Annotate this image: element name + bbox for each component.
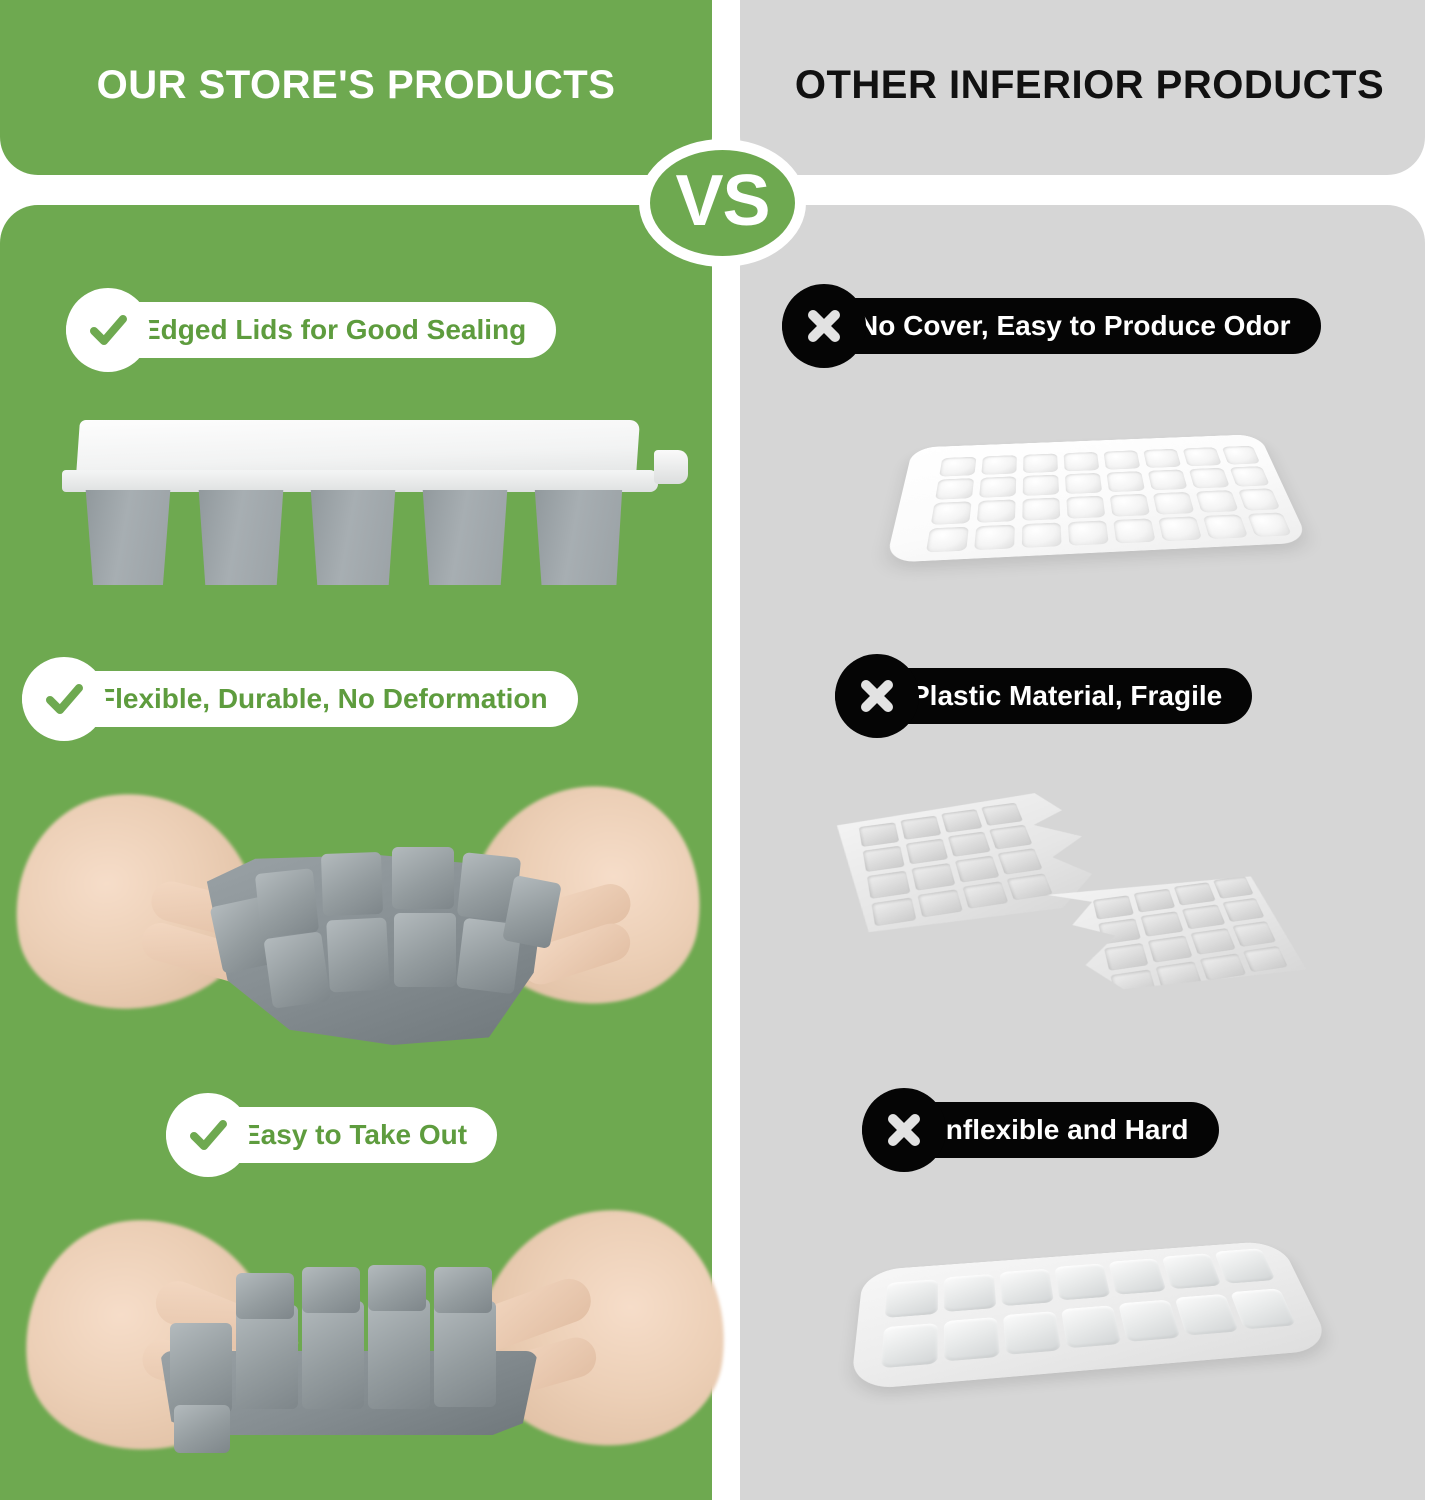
ice-cube — [368, 1299, 430, 1409]
vs-badge: VS — [639, 139, 806, 267]
feature-label: Flexible, Durable, No Deformation — [98, 683, 548, 715]
ice-cube — [1162, 1253, 1222, 1289]
ice-cube-cavity — [321, 852, 383, 916]
tray-cavity — [1222, 898, 1264, 922]
tray-compartment — [194, 490, 288, 585]
tray-cavity — [1006, 873, 1052, 900]
tray-cavity — [1155, 961, 1201, 989]
tray-cavity — [931, 501, 972, 525]
tray-cavity — [1022, 522, 1062, 547]
tray-cavity — [1140, 911, 1183, 936]
feature-label: Edged Lids for Good Sealing — [142, 314, 526, 346]
tray-cavity — [1103, 450, 1140, 469]
panel-our-products: Edged Lids for Good Sealing Flexible, Du… — [0, 205, 712, 1500]
check-icon — [66, 288, 150, 372]
tray-cavity — [1113, 518, 1155, 543]
tray-cavity — [1243, 946, 1288, 972]
ice-cube — [1054, 1263, 1110, 1300]
ice-cube — [885, 1279, 938, 1318]
tray-cavity — [1232, 921, 1276, 947]
tray-cavity — [1158, 516, 1202, 541]
tray-cavity — [1200, 953, 1247, 980]
tray-cavity — [979, 476, 1016, 497]
tray-cavity — [926, 527, 969, 553]
tray-cavity — [1238, 488, 1281, 510]
tray-cavity — [867, 871, 911, 899]
ice-cube — [1214, 1248, 1275, 1283]
white-plastic-tray-body — [886, 434, 1310, 563]
image-rigid-plastic-tray-with-cubes — [855, 1215, 1325, 1445]
lid-pull-tab — [654, 450, 688, 484]
tray-cavity — [1229, 466, 1269, 487]
tray-compartment — [82, 490, 174, 585]
ice-cube — [170, 1323, 232, 1413]
image-hands-pushing-out-cubes — [40, 1205, 690, 1485]
tray-cavity — [1195, 490, 1238, 513]
tray-cavity — [906, 839, 949, 865]
ice-cube — [174, 1405, 230, 1453]
tray-cavity — [863, 846, 905, 872]
ice-cube — [434, 1267, 492, 1313]
tray-cavity — [1190, 928, 1235, 955]
tray-cavity — [1106, 471, 1145, 492]
tray-cavity — [962, 881, 1008, 909]
tray-cavity — [859, 822, 899, 847]
panel-other-products: No Cover, Easy to Produce Odor — [740, 205, 1425, 1500]
tray-cavity — [900, 816, 941, 840]
tray-cavity — [955, 855, 1000, 882]
ice-cube — [1108, 1258, 1166, 1295]
ice-cube — [1003, 1311, 1061, 1355]
cross-icon — [782, 284, 866, 368]
ice-cube — [302, 1267, 360, 1313]
tray-cavity — [1148, 935, 1193, 962]
ice-cube-cavity — [394, 913, 456, 987]
cross-icon — [862, 1088, 946, 1172]
tray-cavity — [1213, 876, 1254, 899]
ice-cube — [1230, 1288, 1296, 1329]
tray-cavity — [1022, 497, 1060, 520]
tray-cavity — [911, 863, 955, 891]
tray-cavity — [977, 499, 1016, 522]
tray-cavity — [974, 525, 1015, 551]
tray-cavity — [1222, 446, 1261, 465]
tray-cavity — [981, 803, 1023, 826]
ice-cube-cavity — [263, 931, 330, 1008]
ice-cube — [368, 1265, 426, 1311]
tray-cavity — [1064, 452, 1100, 472]
tray-lid-surface — [76, 420, 640, 476]
tray-cavity — [1189, 468, 1230, 489]
tray-compartment — [530, 490, 626, 585]
tray-lid-edge — [62, 470, 658, 492]
image-covered-silicone-ice-tray — [54, 420, 674, 605]
feature-pill-easy-take-out: Easy to Take Out — [166, 1107, 497, 1163]
tray-compartment — [306, 490, 400, 585]
drawback-pill-plastic-fragile: Plastic Material, Fragile — [835, 668, 1252, 724]
header-band-our-products: OUR STORE'S PRODUCTS — [0, 0, 712, 175]
header-band-other-products: OTHER INFERIOR PRODUCTS — [740, 0, 1425, 175]
page-title-left: OUR STORE'S PRODUCTS — [97, 63, 616, 112]
tray-cavity — [1203, 514, 1248, 539]
tray-cavity — [1174, 882, 1216, 905]
page-title-right: OTHER INFERIOR PRODUCTS — [781, 63, 1384, 112]
tray-cavity — [1182, 904, 1226, 929]
tray-cavity — [1110, 494, 1150, 517]
image-broken-plastic-tray — [840, 765, 1290, 1035]
ice-cube — [236, 1273, 294, 1319]
ice-cube — [302, 1301, 364, 1409]
tray-cavity — [981, 455, 1017, 475]
ice-cube-cavity — [255, 868, 319, 938]
tray-cavity — [1110, 969, 1156, 997]
tray-cavity — [1065, 473, 1102, 494]
tray-cavity — [1093, 895, 1134, 919]
tray-cavity — [1066, 496, 1105, 519]
ice-cube — [944, 1274, 996, 1312]
tray-cavity — [1153, 492, 1195, 515]
ice-cube-cavity — [326, 917, 390, 992]
tray-cavity — [1104, 943, 1148, 971]
tray-cavity — [935, 478, 974, 500]
ice-cube — [1000, 1269, 1054, 1307]
feature-label: Easy to Take Out — [242, 1119, 467, 1151]
tray-cavity — [941, 809, 982, 833]
tray-cavity — [1143, 449, 1181, 468]
tray-cavity — [1098, 918, 1141, 944]
tray-cavity — [939, 457, 976, 477]
ice-cube — [881, 1323, 938, 1368]
check-icon — [22, 657, 106, 741]
ice-cube — [1061, 1305, 1121, 1348]
ice-cube — [236, 1305, 298, 1409]
ice-cube — [434, 1301, 496, 1407]
ice-cube — [944, 1317, 1000, 1362]
vs-label: VS — [675, 165, 769, 241]
tray-cavity — [917, 889, 963, 917]
tray-cavity — [1247, 512, 1292, 536]
tray-cavity — [1068, 520, 1109, 545]
image-hands-flexing-tray — [20, 783, 692, 1055]
drawback-pill-inflexible-hard: Inflexible and Hard — [862, 1102, 1219, 1158]
image-uncovered-white-tray — [895, 395, 1295, 590]
tray-compartment — [418, 490, 512, 585]
tray-cavity — [948, 832, 991, 857]
feature-pill-edged-lids: Edged Lids for Good Sealing — [66, 302, 556, 358]
tray-cavity — [997, 848, 1042, 875]
check-icon — [166, 1093, 250, 1177]
tray-cavity — [1023, 454, 1058, 474]
drawback-label: Inflexible and Hard — [938, 1114, 1189, 1146]
ice-cube-cavity — [392, 847, 454, 909]
classic-ice-tray-body — [850, 1240, 1333, 1390]
ice-cube — [1175, 1294, 1239, 1336]
tray-cavity — [1148, 469, 1188, 490]
tray-cavity — [1023, 475, 1059, 496]
drawback-pill-no-cover: No Cover, Easy to Produce Odor — [782, 298, 1321, 354]
tray-cavity — [1183, 447, 1222, 466]
drawback-label: No Cover, Easy to Produce Odor — [858, 310, 1291, 342]
tray-cavity — [1134, 889, 1176, 913]
comparison-infographic: OUR STORE'S PRODUCTS OTHER INFERIOR PROD… — [0, 0, 1447, 1500]
cross-icon — [835, 654, 919, 738]
tray-cavity — [871, 897, 916, 926]
drawback-label: Plastic Material, Fragile — [911, 680, 1222, 712]
feature-pill-flexible-durable: Flexible, Durable, No Deformation — [22, 671, 578, 727]
tray-cavity — [989, 825, 1032, 850]
ice-cube — [1118, 1300, 1180, 1342]
